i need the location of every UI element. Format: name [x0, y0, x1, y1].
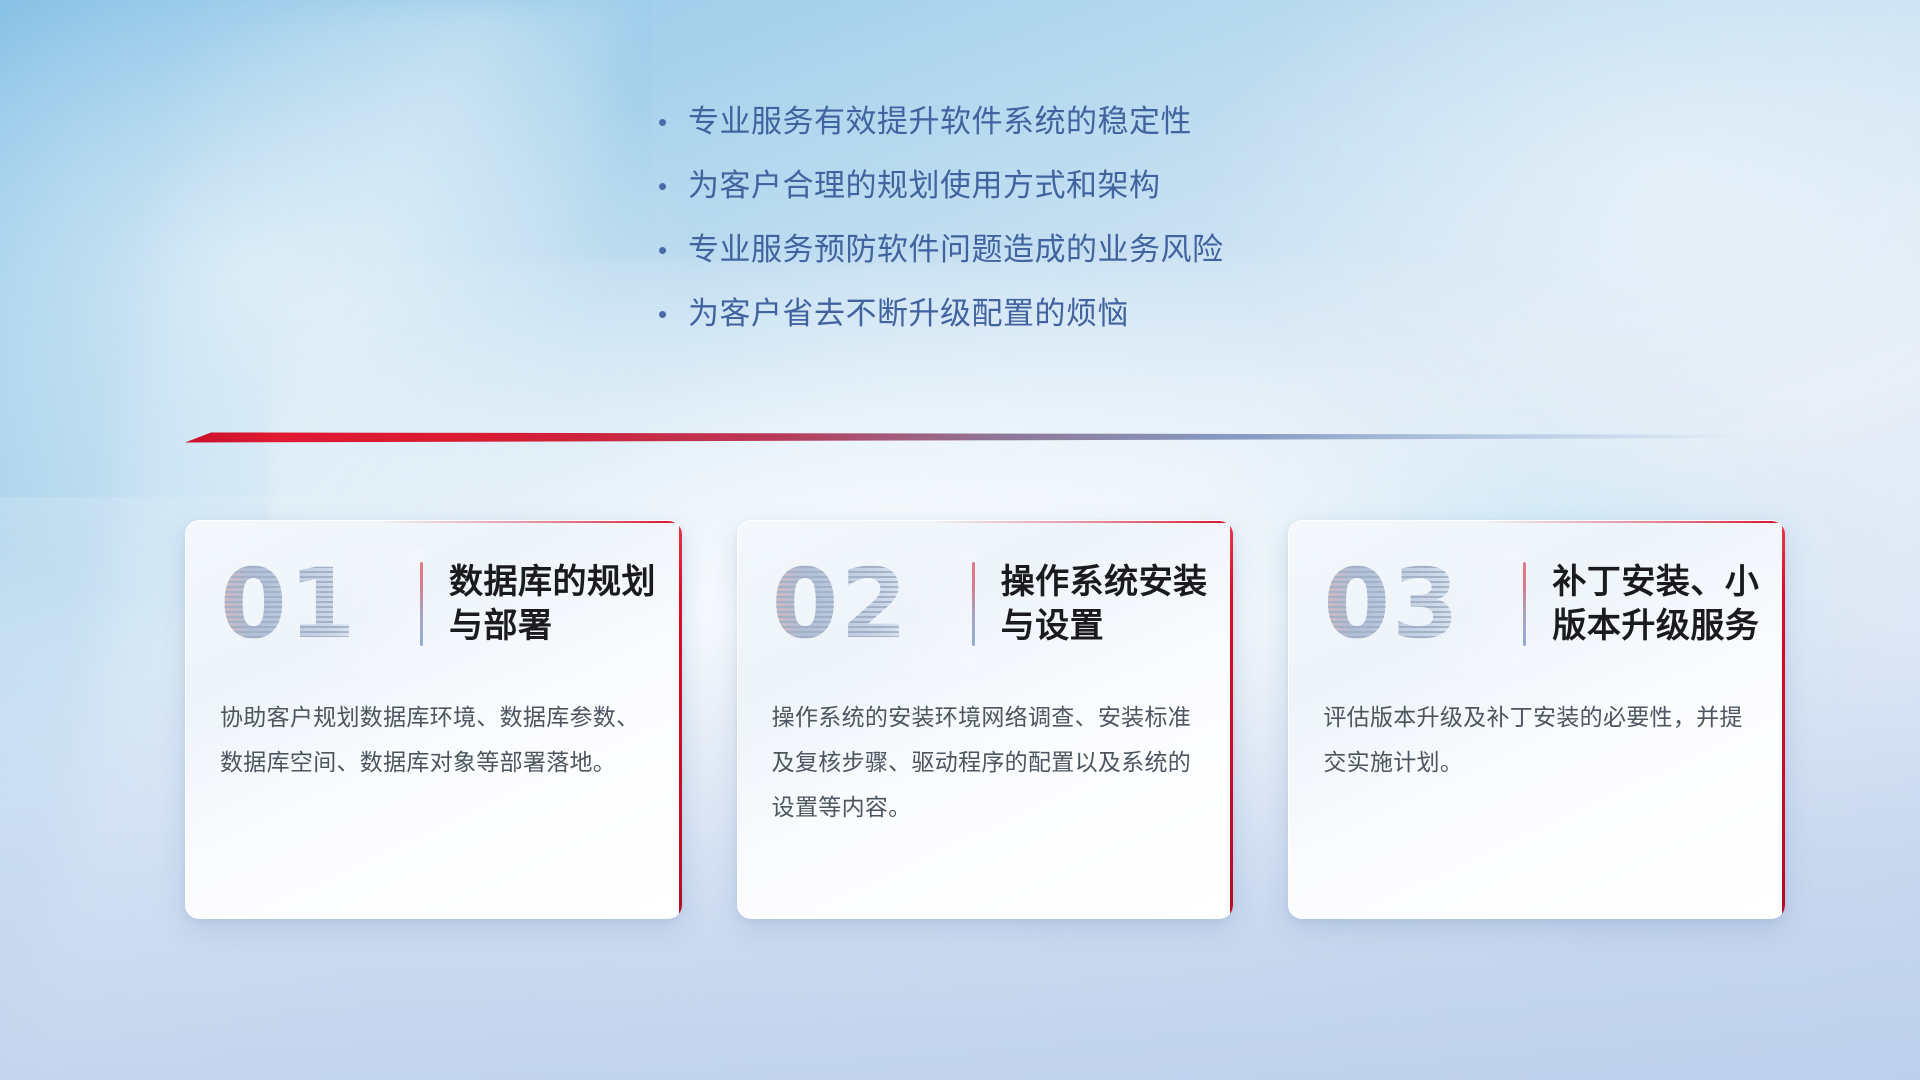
card-description: 操作系统的安装环境网络调查、安装标准及复核步骤、驱动程序的配置以及系统的设置等内… — [738, 651, 1234, 830]
card-number-watermark: 01 — [220, 556, 416, 652]
list-item: • 专业服务有效提升软件系统的稳定性 — [658, 96, 1418, 148]
tapered-line-icon — [185, 425, 1733, 449]
card-description: 协助客户规划数据库环境、数据库参数、数据库空间、数据库对象等部署落地。 — [186, 651, 682, 785]
card-title-divider-bar — [420, 562, 423, 646]
card-title-divider-bar — [972, 562, 975, 646]
bullet-dot-icon: • — [658, 109, 688, 135]
service-card[interactable]: 02 操作系统安装与设置 操作系统的安装环境网络调查、安装标准及复核步骤、驱动程… — [737, 520, 1234, 919]
card-header: 02 操作系统安装与设置 — [738, 521, 1234, 651]
slide-canvas: • 专业服务有效提升软件系统的稳定性 • 为客户合理的规划使用方式和架构 • 专… — [0, 0, 1920, 1080]
bullet-dot-icon: • — [658, 173, 688, 199]
card-title: 补丁安装、小版本升级服务 — [1552, 560, 1785, 648]
card-title: 操作系统安装与设置 — [1001, 560, 1234, 648]
list-item: • 专业服务预防软件问题造成的业务风险 — [658, 224, 1418, 276]
card-number-watermark: 02 — [772, 556, 968, 652]
bullet-label: 专业服务有效提升软件系统的稳定性 — [688, 103, 1192, 140]
card-number-text: 02 — [772, 556, 910, 652]
card-title: 数据库的规划与部署 — [449, 560, 682, 648]
card-title-divider-bar — [1523, 562, 1526, 646]
service-card[interactable]: 03 补丁安装、小版本升级服务 评估版本升级及补丁安装的必要性，并提交实施计划。 — [1288, 520, 1785, 919]
service-card[interactable]: 01 数据库的规划与部署 协助客户规划数据库环境、数据库参数、数据库空间、数据库… — [185, 520, 682, 919]
section-divider — [185, 425, 1733, 449]
card-description: 评估版本升级及补丁安装的必要性，并提交实施计划。 — [1289, 651, 1785, 785]
bullet-label: 专业服务预防软件问题造成的业务风险 — [688, 231, 1224, 268]
bullet-label: 为客户省去不断升级配置的烦恼 — [688, 295, 1129, 332]
list-item: • 为客户省去不断升级配置的烦恼 — [658, 288, 1418, 340]
service-cards-row: 01 数据库的规划与部署 协助客户规划数据库环境、数据库参数、数据库空间、数据库… — [185, 520, 1785, 919]
benefits-bullet-list: • 专业服务有效提升软件系统的稳定性 • 为客户合理的规划使用方式和架构 • 专… — [658, 96, 1418, 352]
bullet-label: 为客户合理的规划使用方式和架构 — [688, 167, 1161, 204]
card-number-watermark: 03 — [1323, 556, 1519, 652]
bullet-dot-icon: • — [658, 237, 688, 263]
card-number-text: 01 — [220, 556, 358, 652]
card-number-text: 03 — [1323, 556, 1461, 652]
bullet-dot-icon: • — [658, 301, 688, 327]
card-header: 01 数据库的规划与部署 — [186, 521, 682, 651]
list-item: • 为客户合理的规划使用方式和架构 — [658, 160, 1418, 212]
card-header: 03 补丁安装、小版本升级服务 — [1289, 521, 1785, 651]
